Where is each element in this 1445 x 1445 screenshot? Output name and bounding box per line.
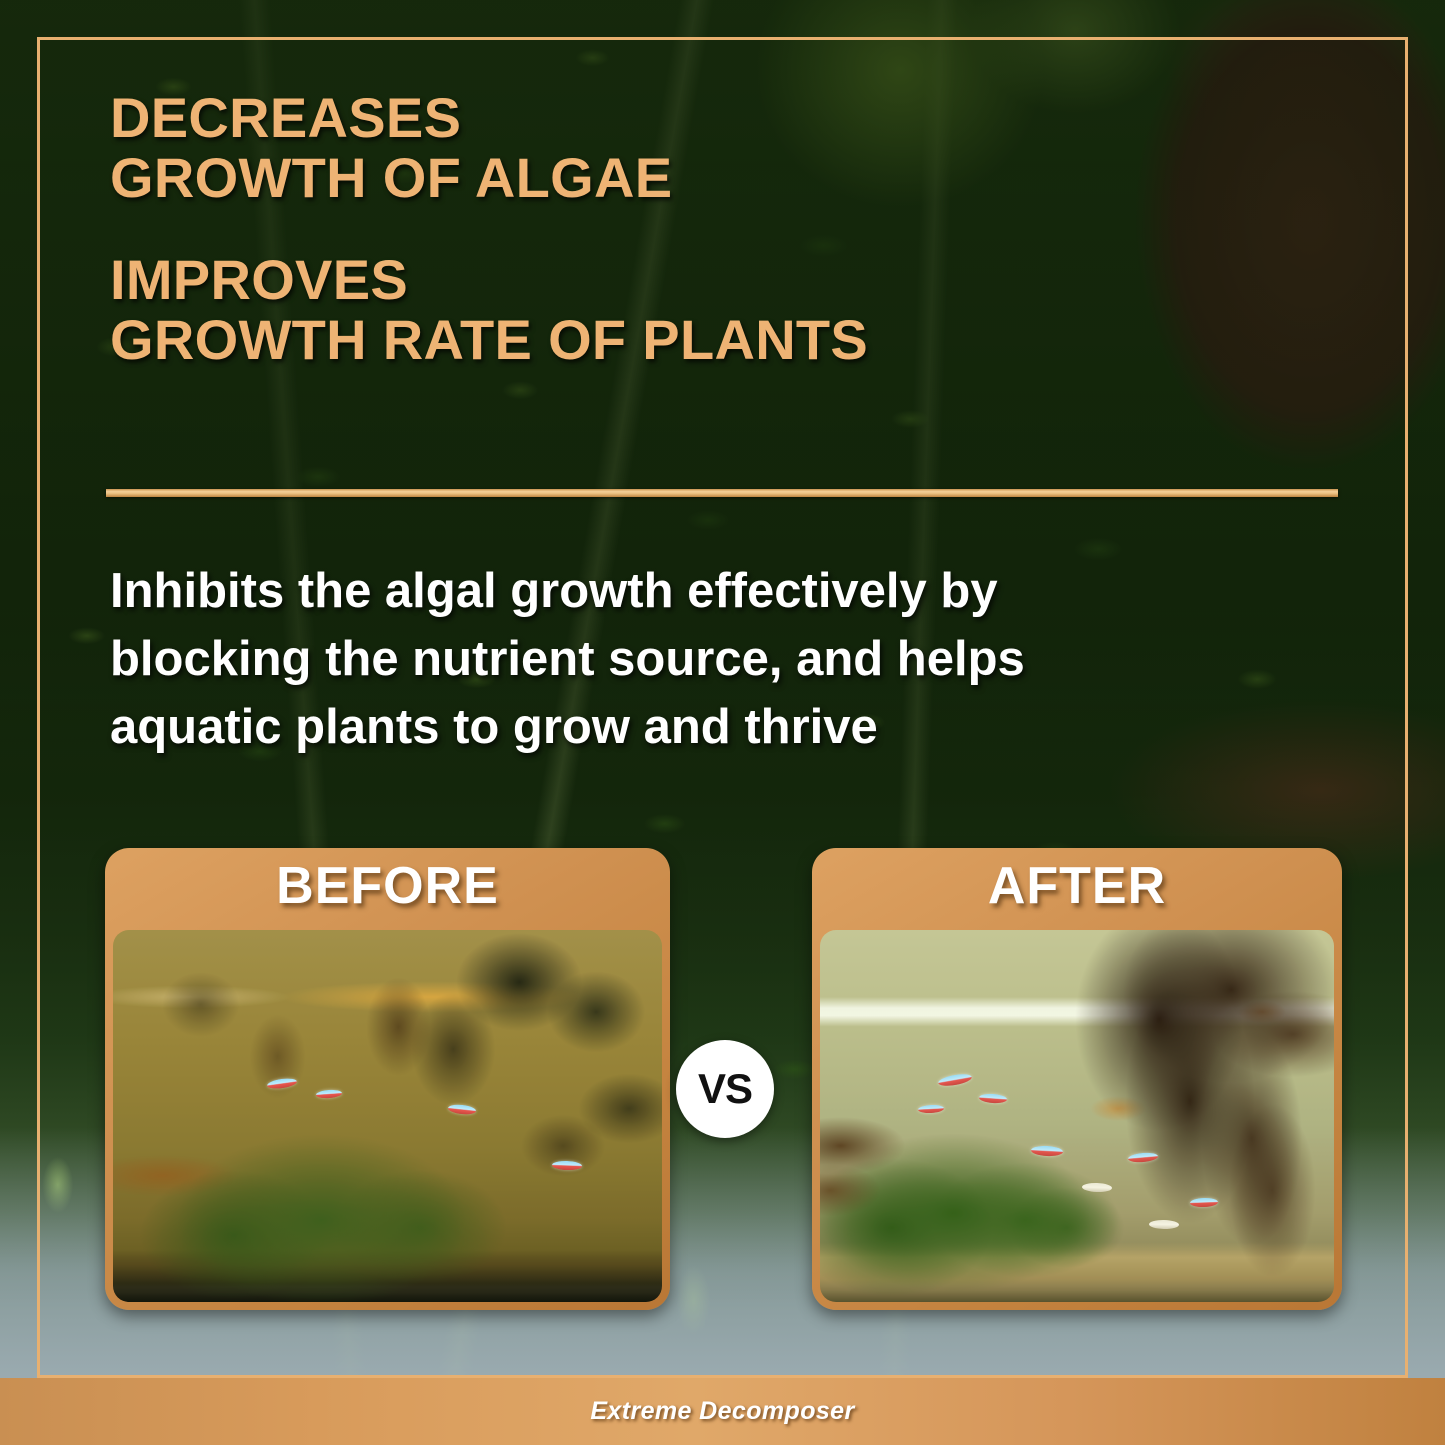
fish-icon [979,1093,1008,1104]
headline-improves-plant-growth: IMPROVES GROWTH RATE OF PLANTS [110,250,1110,370]
after-panel: AFTER [812,848,1342,1310]
after-aquarium-photo [820,930,1334,1302]
fish-icon [316,1089,342,1099]
fish-icon [447,1103,476,1115]
fish-icon [1190,1197,1218,1207]
after-panel-label: AFTER [812,856,1342,916]
fish-icon [1128,1152,1159,1164]
fish-icon [1082,1182,1112,1192]
footer-bar: Extreme Decomposer [0,1378,1445,1445]
fish-icon [266,1077,297,1090]
headline-decreases-algae: DECREASES GROWTH OF ALGAE [110,88,1110,208]
brand-name: Extreme Decomposer [590,1397,854,1426]
before-panel-label: BEFORE [105,856,670,916]
description-paragraph: Inhibits the algal growth effectively by… [110,557,1310,761]
before-aquarium-photo [113,930,662,1302]
fish-icon [552,1160,582,1170]
fish-icon [1030,1145,1062,1157]
vs-badge-label: VS [698,1065,752,1113]
fish-icon [1149,1220,1179,1230]
before-panel: BEFORE [105,848,670,1310]
vs-badge: VS [676,1040,774,1138]
section-divider [106,489,1338,497]
after-tank-scene [820,930,1334,1302]
before-tank-scene [113,930,662,1302]
headline-block: DECREASES GROWTH OF ALGAE IMPROVES GROWT… [110,88,1110,370]
fish-icon [938,1072,973,1088]
product-infographic-poster: DECREASES GROWTH OF ALGAE IMPROVES GROWT… [0,0,1445,1445]
fish-icon [917,1104,943,1113]
